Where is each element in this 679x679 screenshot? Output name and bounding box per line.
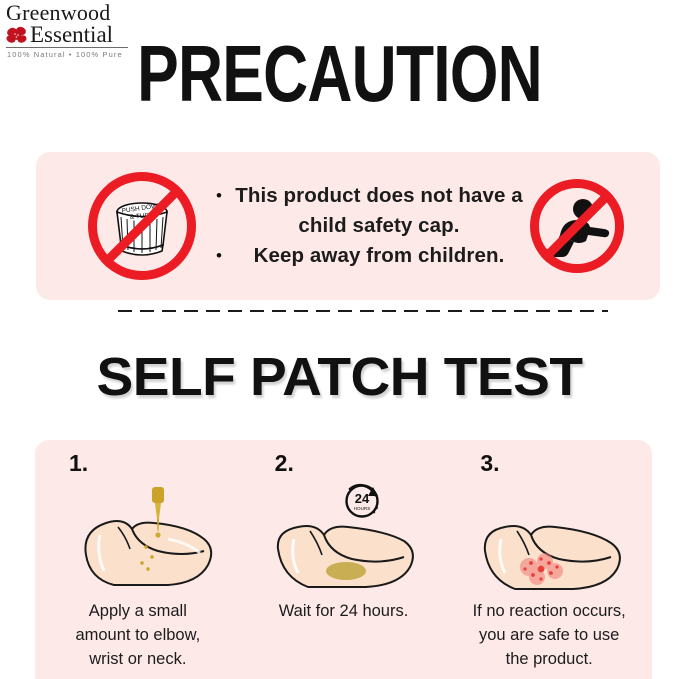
step-2-caption-line1: Wait for 24 hours. — [279, 602, 409, 620]
red-flower-icon — [6, 25, 28, 45]
brand-name-line1: Greenwood — [4, 2, 132, 24]
precaution-bullet-2-line1: Keep away from children. — [234, 241, 524, 271]
step-1-caption-line1: Apply a small — [89, 602, 187, 620]
bullet-marker: • — [210, 241, 228, 271]
no-child-safety-cap-icon: PUSH DOWN & TURN — [88, 172, 196, 280]
patch-test-step-3: 3. — [446, 440, 652, 679]
step-3-caption-line1: If no reaction occurs, — [473, 602, 626, 620]
patch-test-step-2: 2. 24 HOURS — [241, 440, 447, 679]
precaution-bullet-list: • This product does not have a child saf… — [196, 181, 530, 271]
precaution-bullet-1-line2: child safety cap. — [298, 214, 459, 237]
step-2-caption: Wait for 24 hours. — [271, 599, 417, 623]
elbow-with-dropper-icon — [35, 473, 241, 593]
patch-test-step-1: 1. — [35, 440, 241, 679]
step-1-caption-line2: amount to elbow, — [75, 626, 200, 644]
section-divider — [118, 310, 608, 312]
badge-hours-unit: HOURS — [353, 506, 370, 511]
page-title-precaution: PRECAUTION — [75, 34, 605, 114]
precaution-bullet-2: • Keep away from children. — [210, 241, 524, 271]
step-3-caption-line2: you are safe to use — [479, 626, 619, 644]
step-3-caption: If no reaction occurs, you are safe to u… — [465, 599, 634, 671]
self-patch-test-panel: 1. — [35, 440, 652, 679]
bullet-marker: • — [210, 181, 228, 211]
precaution-bullet-1-line1: This product does not have a — [235, 184, 523, 207]
elbow-with-24-hours-clock-icon: 24 HOURS — [241, 473, 447, 593]
badge-24-value: 24 — [354, 491, 369, 506]
precaution-card: PUSH DOWN & TURN • This product does not… — [36, 152, 660, 300]
step-1-caption: Apply a small amount to elbow, wrist or … — [67, 599, 208, 671]
step-1-caption-line3: wrist or neck. — [89, 650, 186, 668]
precaution-bullet-1: • This product does not have a child saf… — [210, 181, 524, 241]
elbow-with-red-rash-icon — [446, 473, 652, 593]
page-title-self-patch-test: SELF PATCH TEST — [0, 348, 679, 406]
step-3-caption-line3: the product. — [506, 650, 593, 668]
no-children-icon — [530, 179, 624, 273]
